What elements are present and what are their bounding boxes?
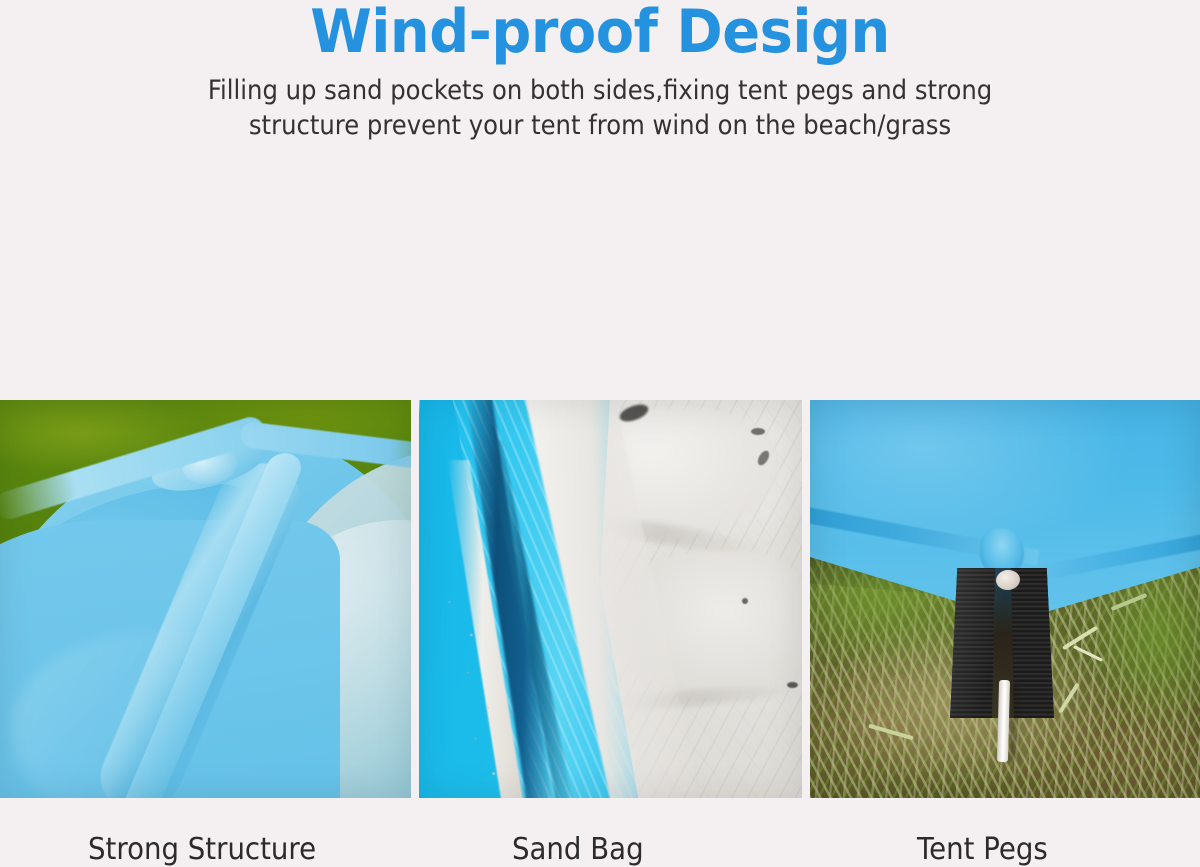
- caption-cell-tent-pegs: Tent Pegs: [795, 798, 1200, 866]
- photo-vignette: [419, 400, 802, 798]
- feature-caption-row: Strong Structure Sand Bag Tent Pegs: [0, 798, 1200, 866]
- feature-caption-label: Tent Pegs: [917, 834, 1048, 866]
- panel-divider-1: [411, 400, 419, 798]
- feature-image-row: [0, 400, 1200, 798]
- page-title: Wind-proof Design: [42, 0, 1158, 64]
- tent-peg-photo: [810, 400, 1200, 798]
- photo-vignette: [0, 400, 411, 798]
- tent-ridge-photo: [0, 400, 411, 798]
- feature-caption-label: Sand Bag: [512, 834, 644, 866]
- header-block: Wind-proof Design Filling up sand pocket…: [0, 0, 1200, 143]
- page-subtitle: Filling up sand pockets on both sides,fi…: [177, 73, 1023, 143]
- photo-vignette: [810, 400, 1200, 798]
- feature-photo-sand-bag: [419, 400, 802, 798]
- panel-divider-2: [802, 400, 810, 798]
- caption-cell-strong-structure: Strong Structure: [0, 798, 386, 866]
- feature-photo-strong-structure: [0, 400, 411, 798]
- feature-photo-tent-pegs: [810, 400, 1200, 798]
- sand-pocket-photo: [419, 400, 802, 798]
- feature-caption-label: Strong Structure: [88, 834, 316, 866]
- caption-cell-sand-bag: Sand Bag: [386, 798, 795, 866]
